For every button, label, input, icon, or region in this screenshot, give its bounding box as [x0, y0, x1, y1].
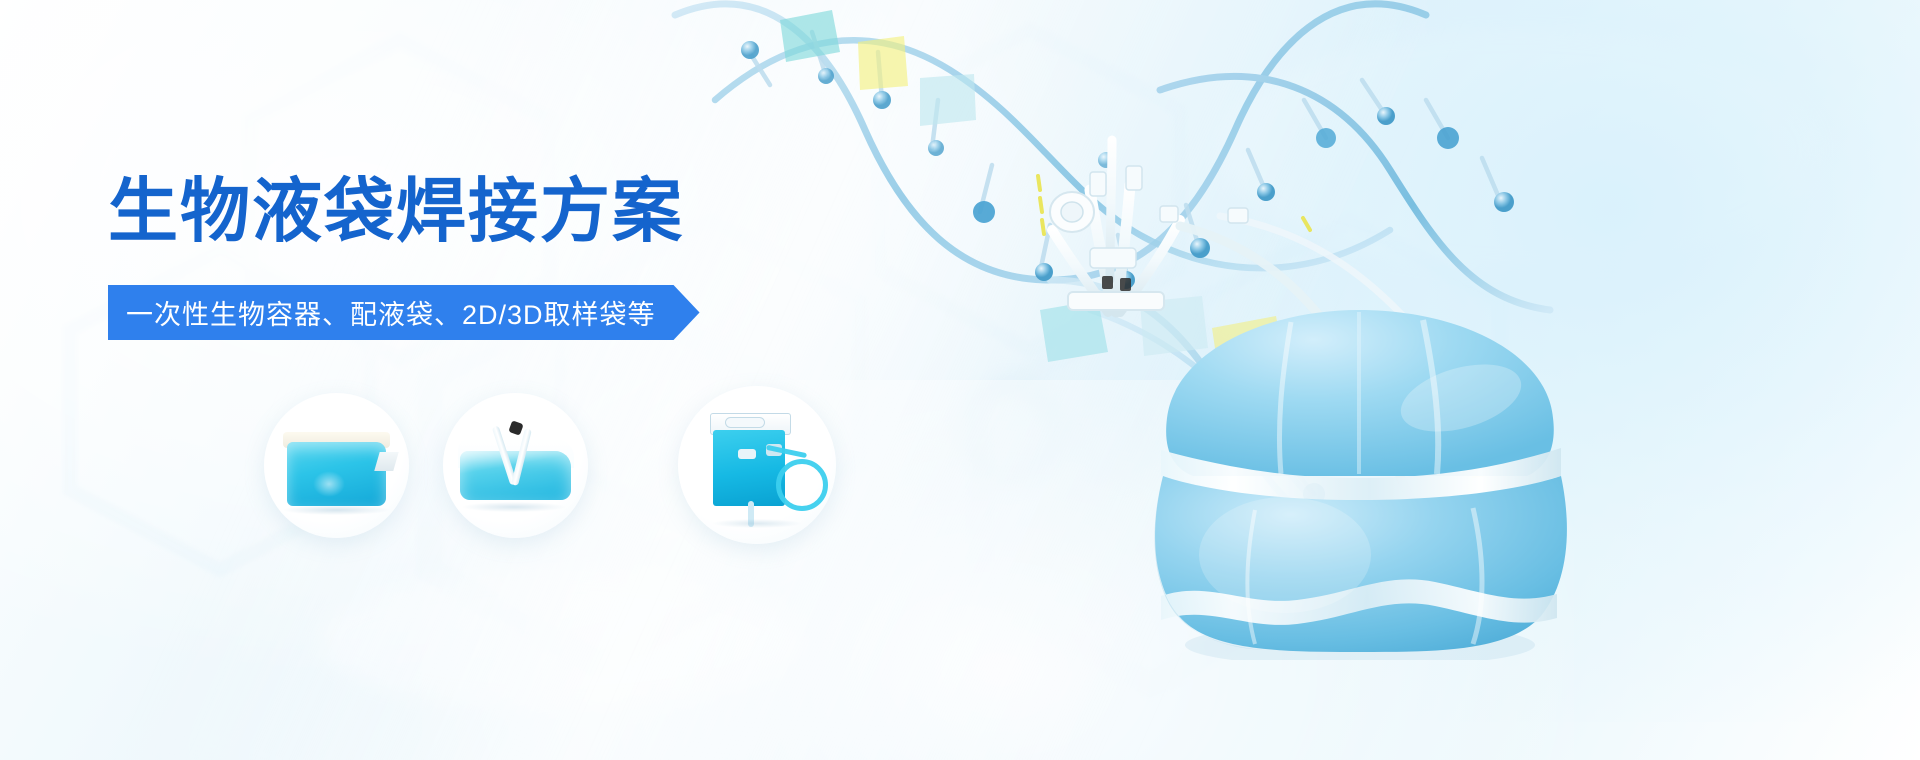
- large-bioreactor-bag: [1105, 300, 1605, 660]
- product-thumb-2[interactable]: [443, 393, 588, 538]
- subtitle-banner: 一次性生物容器、配液袋、2D/3D取样袋等: [108, 285, 700, 340]
- page-title: 生物液袋焊接方案: [108, 176, 684, 246]
- three-d-mixing-bag-icon: [443, 393, 588, 538]
- hero-banner: 生物液袋焊接方案 一次性生物容器、配液袋、2D/3D取样袋等: [0, 0, 1920, 760]
- product-thumb-1[interactable]: [264, 393, 409, 538]
- product-thumb-3[interactable]: [678, 386, 836, 544]
- pillow-liquid-bag-icon: [264, 393, 409, 538]
- headline-block: 生物液袋焊接方案: [108, 176, 684, 246]
- sampling-bag-with-tubing-icon: [678, 386, 836, 544]
